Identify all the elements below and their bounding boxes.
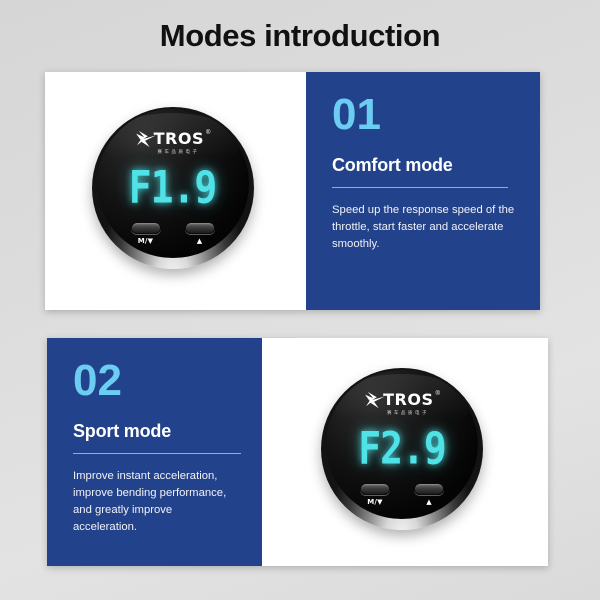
mode-card-comfort: TROS ® 赛车品质电子 F1.9 M/▼ ▲ — [45, 72, 540, 310]
device-panel-sport: TROS ® 赛车品质电子 F2.9 M/▼ ▲ — [262, 338, 548, 566]
device-button-row: M/▼ ▲ — [326, 483, 478, 506]
device-button-row: M/▼ ▲ — [97, 222, 249, 245]
device-panel-comfort: TROS ® 赛车品质电子 F1.9 M/▼ ▲ — [45, 72, 306, 310]
mode-up-key[interactable] — [414, 483, 444, 495]
device-face: TROS ® 赛车品质电子 F1.9 M/▼ ▲ — [97, 109, 249, 258]
mode-description-comfort: Speed up the response speed of the throt… — [332, 202, 516, 253]
brand-logo: TROS ® 赛车品质电子 — [326, 390, 478, 416]
mode-down-key[interactable] — [360, 483, 390, 495]
mode-description-sport: Improve instant acceleration, improve be… — [73, 468, 238, 537]
mode-number-02: 02 — [73, 360, 238, 402]
throttle-controller-device[interactable]: TROS ® 赛车品质电子 F2.9 M/▼ ▲ — [321, 368, 489, 536]
mode-card-sport: 02 Sport mode Improve instant accelerati… — [47, 338, 548, 566]
heading-divider — [73, 453, 241, 454]
info-panel-sport: 02 Sport mode Improve instant accelerati… — [47, 338, 262, 566]
brand-name: TROS — [154, 129, 204, 148]
led-display-value: F1.9 — [97, 161, 249, 213]
registered-mark-icon: ® — [206, 130, 210, 136]
mode-up-label: ▲ — [197, 237, 203, 245]
heading-divider — [332, 187, 508, 188]
brand-name: TROS — [383, 390, 433, 409]
mode-down-label: M/▼ — [138, 237, 154, 245]
device-body: TROS ® 赛车品质电子 F2.9 M/▼ ▲ — [321, 368, 483, 530]
mode-up-button[interactable]: ▲ — [185, 222, 215, 245]
mode-up-button[interactable]: ▲ — [414, 483, 444, 506]
registered-mark-icon: ® — [435, 391, 439, 397]
mode-down-label: M/▼ — [367, 498, 383, 506]
brand-subtitle: 赛车品质电子 — [387, 410, 429, 416]
device-body: TROS ® 赛车品质电子 F1.9 M/▼ ▲ — [92, 107, 254, 269]
mode-down-key[interactable] — [131, 222, 161, 234]
info-panel-comfort: 01 Comfort mode Speed up the response sp… — [306, 72, 540, 310]
mode-up-key[interactable] — [185, 222, 215, 234]
brand-logo: TROS ® 赛车品质电子 — [97, 129, 249, 155]
mode-number-01: 01 — [332, 94, 516, 136]
mode-down-button[interactable]: M/▼ — [360, 483, 390, 506]
led-display-value: F2.9 — [326, 422, 478, 474]
mode-heading-comfort: Comfort mode — [332, 155, 516, 176]
mode-down-button[interactable]: M/▼ — [131, 222, 161, 245]
brand-subtitle: 赛车品质电子 — [158, 149, 200, 155]
page-title: Modes introduction — [0, 18, 600, 54]
device-face: TROS ® 赛车品质电子 F2.9 M/▼ ▲ — [326, 370, 478, 519]
mode-heading-sport: Sport mode — [73, 421, 238, 442]
throttle-controller-device[interactable]: TROS ® 赛车品质电子 F1.9 M/▼ ▲ — [92, 107, 260, 275]
mode-up-label: ▲ — [426, 498, 432, 506]
